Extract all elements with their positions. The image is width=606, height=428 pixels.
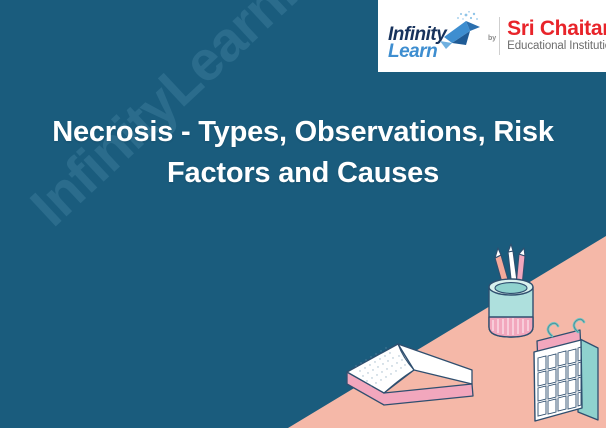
origami-bird-icon (436, 11, 484, 55)
logo-divider (499, 17, 500, 55)
logo-panel: Infinity Learn by (378, 0, 606, 72)
page-title: Necrosis - Types, Observations, Risk Fac… (14, 112, 592, 194)
sri-chaitanya-subtitle: Educational Institutions (507, 40, 606, 53)
infinity-logo-line2: Learn (388, 42, 437, 61)
by-label: by (488, 35, 499, 42)
sri-chaitanya-logo: Sri Chaitanya Educational Institutions (507, 18, 606, 53)
article-banner: InfinityLearn.com (0, 0, 606, 428)
infinity-learn-logo: Infinity Learn (384, 5, 488, 67)
sri-chaitanya-title: Sri Chaitanya (507, 18, 606, 40)
